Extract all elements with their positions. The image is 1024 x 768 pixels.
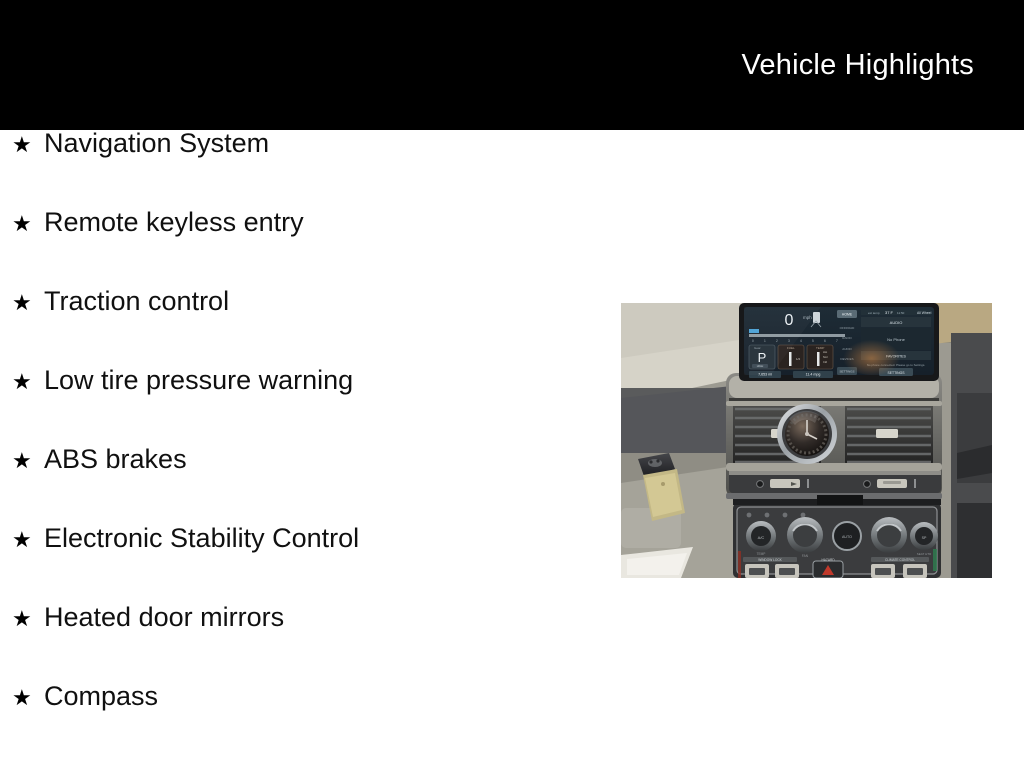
feature-label: Electronic Stability Control [44,525,600,552]
feature-label: Low tire pressure warning [44,367,600,394]
star-bullet-icon: ★ [12,450,44,472]
svg-text:SEAT HTR: SEAT HTR [917,552,932,556]
svg-text:WINDOW LOCK: WINDOW LOCK [758,558,782,562]
star-bullet-icon: ★ [12,371,44,393]
svg-text:1/2: 1/2 [796,357,801,361]
vehicle-highlights-list: ★ Navigation System ★ Remote keyless ent… [0,130,600,762]
svg-text:6: 6 [824,339,826,343]
list-item: ★ Navigation System [0,130,600,209]
list-item: ★ Remote keyless entry [0,209,600,288]
svg-text:CLIMATE CONTROL: CLIMATE CONTROL [885,558,915,562]
list-item: ★ Heated door mirrors [0,604,600,683]
list-item: ★ Compass [0,683,600,762]
hazard-button [813,561,843,578]
svg-text:4: 4 [800,339,802,343]
list-item: ★ ABS brakes [0,446,600,525]
svg-text:37 F: 37 F [885,310,894,315]
vehicle-console-illustration: 0 mph 012 345 67 Gear P HIGH FUEL 1/2 TE [621,303,992,578]
svg-text:11:50: 11:50 [897,311,905,315]
list-item: ★ Electronic Stability Control [0,525,600,604]
svg-text:All Wheel: All Wheel [917,311,932,315]
page-header: Vehicle Highlights [0,0,1024,130]
list-item: ★ Low tire pressure warning [0,367,600,446]
feature-label: Navigation System [44,130,600,157]
console-switch [903,564,927,578]
climate-knob [871,517,907,553]
svg-text:Nml: Nml [823,355,828,359]
svg-text:AUDIO: AUDIO [890,320,903,325]
infotainment-screen: 0 mph 012 345 67 Gear P HIGH FUEL 1/2 TE [739,303,939,381]
svg-text:OFFROAD: OFFROAD [840,326,855,330]
feature-label: Remote keyless entry [44,209,600,236]
svg-text:ext temp: ext temp [868,311,880,315]
star-bullet-icon: ★ [12,134,44,156]
svg-text:5: 5 [812,339,814,343]
console-switch [871,564,895,578]
feature-label: Traction control [44,288,600,315]
feature-label: Heated door mirrors [44,604,600,631]
vehicle-console-photo: 0 mph 012 345 67 Gear P HIGH FUEL 1/2 TE [621,303,992,578]
star-bullet-icon: ★ [12,529,44,551]
svg-text:A/C: A/C [758,535,765,540]
page-title: Vehicle Highlights [741,51,974,80]
climate-control-panel: A/C TEMP FAN AUTO SP SE [733,503,941,578]
star-bullet-icon: ★ [12,687,44,709]
list-item: ★ Traction control [0,288,600,367]
svg-text:7: 7 [836,339,838,343]
star-bullet-icon: ★ [12,213,44,235]
feature-label: Compass [44,683,600,710]
svg-text:SP: SP [922,536,927,540]
feature-label: ABS brakes [44,446,600,473]
svg-text:AUTO: AUTO [842,535,852,539]
star-bullet-icon: ★ [12,292,44,314]
svg-text:Hot: Hot [823,350,827,354]
svg-text:FAN: FAN [802,554,809,558]
console-switch [775,564,799,578]
svg-text:Cld: Cld [823,360,827,364]
svg-text:HOME: HOME [842,313,853,317]
analog-clock [777,404,837,464]
climate-knob: AUTO [833,522,861,550]
svg-text:TEMP: TEMP [757,552,766,556]
svg-text:TEMP: TEMP [816,346,824,350]
console-switch [745,564,769,578]
star-bullet-icon: ★ [12,608,44,630]
svg-text:11.4 mpg: 11.4 mpg [806,373,821,377]
